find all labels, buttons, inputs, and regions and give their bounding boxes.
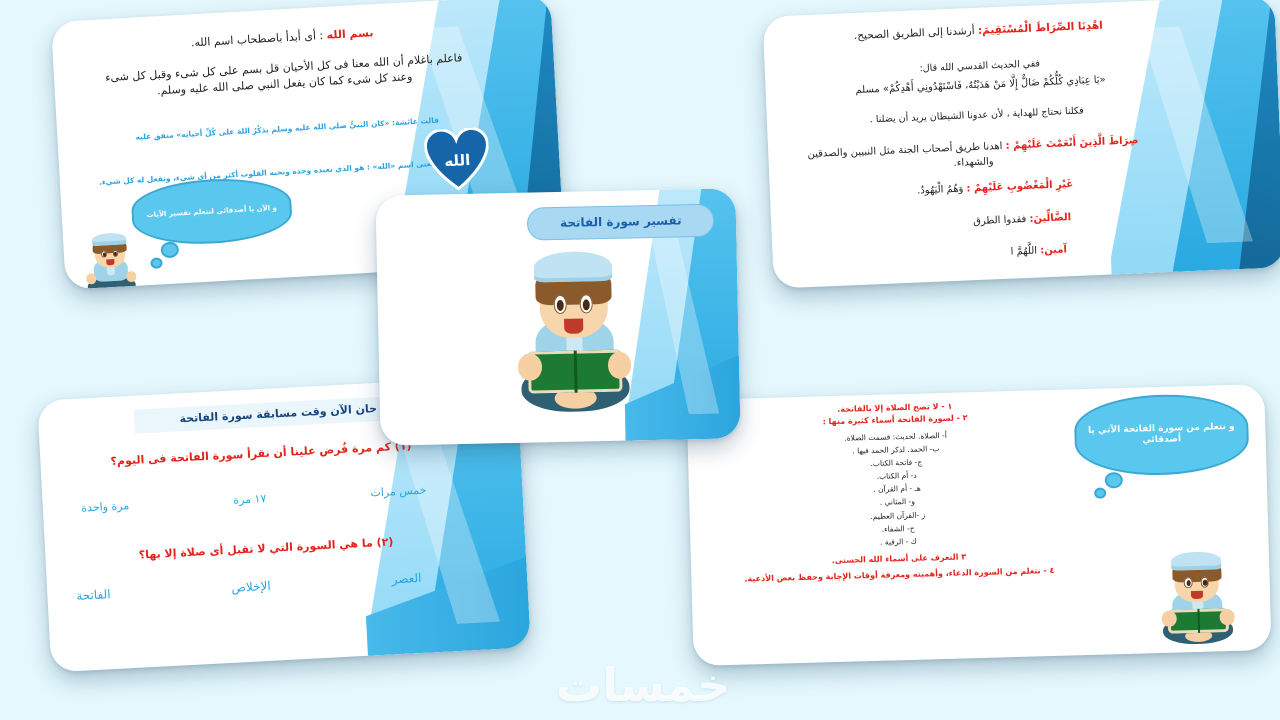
quiz-option[interactable]: مرة واحدة bbox=[81, 499, 130, 514]
sirat-line-4-rest: فقدوا الطرق bbox=[973, 214, 1030, 227]
boy-character-basmala bbox=[83, 232, 138, 290]
sirat-line-5-rest: اللَّهُمَّ ا bbox=[1010, 246, 1040, 258]
slide-sirat-inner: اهْدِنَا الصِّرَاطَ الْمُسْتَقِيمَ: أرشد… bbox=[763, 0, 1280, 289]
sirat-line-2: صِرَاطَ الَّذِينَ أَنْعَمْتَ عَلَيْهِمْ … bbox=[789, 134, 1159, 178]
slide-decoration-benefits bbox=[1264, 384, 1271, 650]
benefits-speech-bubble: و نتعلم من سورة الفاتحة الآتي يا أصدقائي bbox=[1074, 392, 1250, 477]
sirat-line-3-rest: وَهُمُ الْيَهُودُ. bbox=[917, 184, 967, 197]
slide-title-inner: تفسير سورة الفاتحة bbox=[375, 188, 740, 445]
slides-overview-canvas: بسم الله : أى أبدأ باصطحاب اسم الله. فاع… bbox=[0, 0, 1280, 720]
sirat-line-3-red: غَيْرِ الْمَغْضُوبِ عَلَيْهِمْ : bbox=[966, 179, 1073, 194]
watermark-khamsat: خمسات bbox=[556, 658, 730, 712]
slide-card-sirat[interactable]: اهْدِنَا الصِّرَاطَ الْمُسْتَقِيمَ: أرشد… bbox=[763, 0, 1280, 289]
sirat-line-1-rest: أرشدنا إلى الطريق الصحيح. bbox=[854, 25, 979, 42]
basmala-heading-red: بسم الله bbox=[326, 27, 373, 43]
quiz-option[interactable]: الإخلاص bbox=[231, 579, 271, 595]
allah-heart-badge: الله bbox=[424, 127, 491, 192]
sirat-line-2-rest: اهدنا طريق أصحاب الجنة مثل النبيين والصد… bbox=[807, 141, 1006, 169]
slide-benefits-inner: ١ - لا تصح الصلاة إلا بالفاتحة. ٢ - لسور… bbox=[686, 384, 1271, 666]
sirat-line-3: غَيْرِ الْمَغْضُوبِ عَلَيْهِمْ : وَهُمُ … bbox=[841, 175, 1149, 202]
sirat-line-2-red: صِرَاطَ الَّذِينَ أَنْعَمْتَ عَلَيْهِمْ … bbox=[1005, 135, 1138, 152]
slide-card-benefits[interactable]: ١ - لا تصح الصلاة إلا بالفاتحة. ٢ - لسور… bbox=[686, 384, 1271, 666]
slide-card-title[interactable]: تفسير سورة الفاتحة bbox=[375, 188, 740, 445]
quiz-option[interactable]: ١٧ مرة bbox=[233, 492, 267, 507]
sirat-line-5-red: آمين: bbox=[1040, 245, 1067, 257]
quiz-option[interactable]: الفاتحة bbox=[76, 588, 111, 604]
boy-character-benefits bbox=[1158, 551, 1237, 645]
allah-heart-label: الله bbox=[444, 151, 471, 170]
sirat-line-4-red: الضَّالِّينَ: bbox=[1029, 212, 1071, 225]
title-pill: تفسير سورة الفاتحة bbox=[527, 204, 715, 240]
benefits-list: ١ - لا تصح الصلاة إلا بالفاتحة. ٢ - لسور… bbox=[710, 397, 1085, 586]
sirat-line-1-red: اهْدِنَا الصِّرَاطَ الْمُسْتَقِيمَ: bbox=[978, 20, 1103, 37]
boy-character-title bbox=[513, 250, 634, 412]
basmala-speech-bubble: و الآن يا أصدقائي لنتعلم تفسير الآيات bbox=[130, 175, 293, 248]
basmala-heading-rest: : أى أبدأ باصطحاب اسم الله. bbox=[191, 29, 327, 50]
quiz-option[interactable]: العصر bbox=[391, 571, 422, 587]
